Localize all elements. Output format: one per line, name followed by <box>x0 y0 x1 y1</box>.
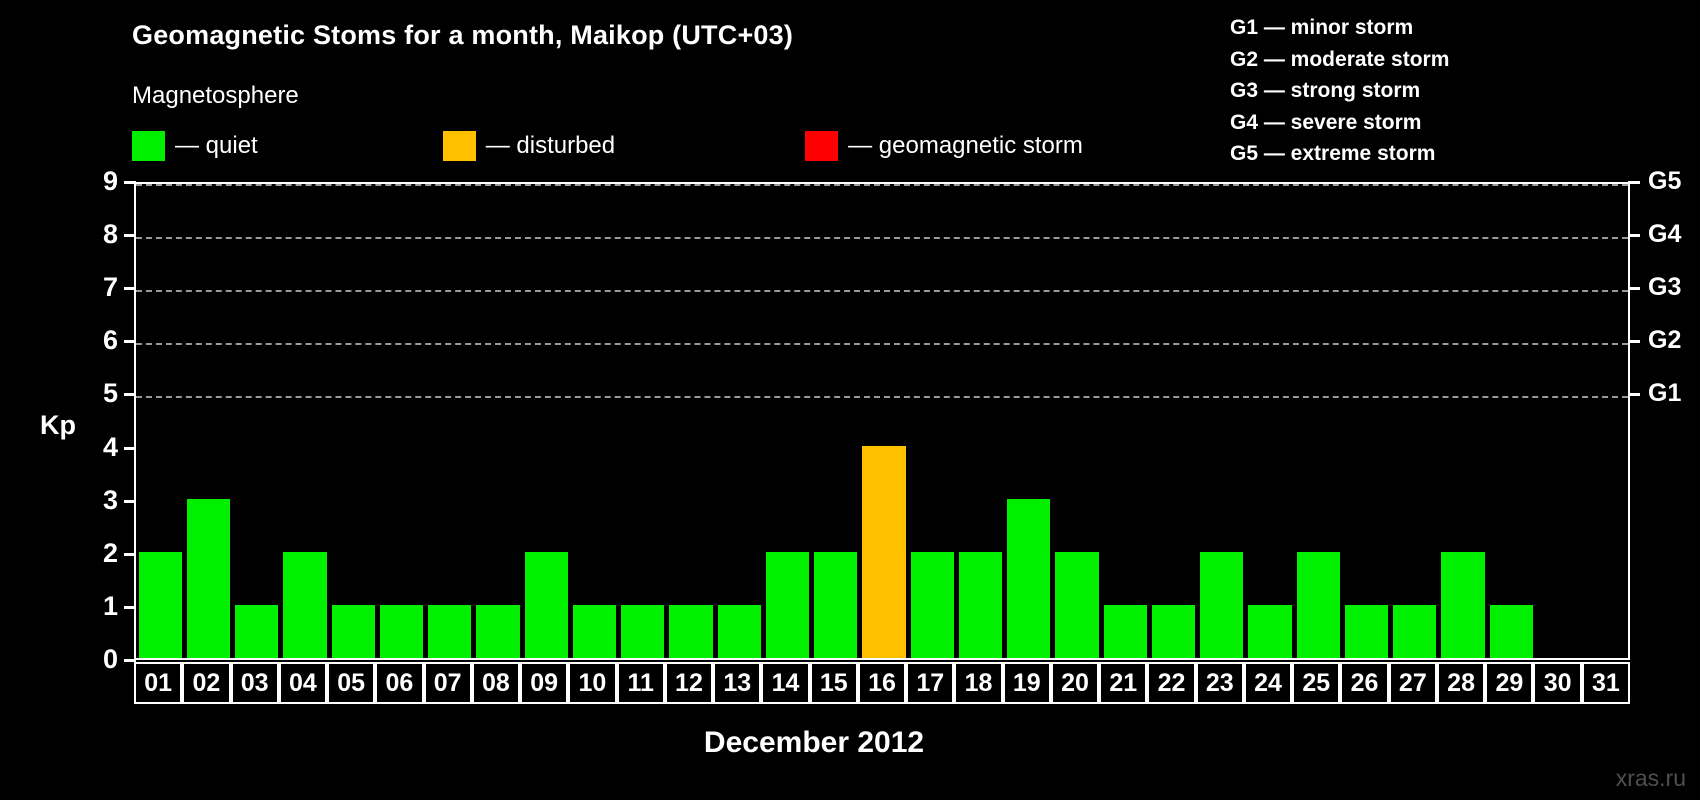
day-label-24[interactable]: 24 <box>1244 662 1292 704</box>
bar-day-18[interactable] <box>959 552 1002 658</box>
g-axis-label-G5: G5 <box>1648 169 1681 194</box>
day-label-10[interactable]: 10 <box>568 662 616 704</box>
gridline-kp-9 <box>136 184 1628 186</box>
g-tick-G5 <box>1628 181 1640 184</box>
g-axis-label-G1: G1 <box>1648 381 1681 406</box>
page-title: Geomagnetic Stoms for a month, Maikop (U… <box>132 20 793 51</box>
day-label-03[interactable]: 03 <box>231 662 279 704</box>
bar-day-03[interactable] <box>235 605 278 658</box>
day-label-31[interactable]: 31 <box>1582 662 1630 704</box>
bar-day-24[interactable] <box>1248 605 1291 658</box>
y-tick-6 <box>124 340 136 343</box>
y-axis-title: Kp <box>40 410 76 441</box>
bar-day-10[interactable] <box>573 605 616 658</box>
bar-day-16[interactable] <box>862 446 905 658</box>
bar-day-26[interactable] <box>1345 605 1388 658</box>
legend-entry-disturbed: — disturbed <box>443 130 615 162</box>
y-axis-label-7: 7 <box>78 274 118 301</box>
day-label-04[interactable]: 04 <box>279 662 327 704</box>
y-tick-9 <box>124 181 136 184</box>
y-axis-label-9: 9 <box>78 168 118 195</box>
bar-day-28[interactable] <box>1441 552 1484 658</box>
y-tick-5 <box>124 393 136 396</box>
day-label-02[interactable]: 02 <box>182 662 230 704</box>
g-legend-row-1: G1 — minor storm <box>1230 12 1449 44</box>
day-label-11[interactable]: 11 <box>617 662 665 704</box>
g-legend-row-4: G4 — severe storm <box>1230 107 1449 139</box>
day-label-29[interactable]: 29 <box>1485 662 1533 704</box>
g-tick-G1 <box>1628 393 1640 396</box>
day-label-07[interactable]: 07 <box>424 662 472 704</box>
bar-day-09[interactable] <box>525 552 568 658</box>
y-tick-2 <box>124 553 136 556</box>
month-label: December 2012 <box>0 726 1700 760</box>
bar-day-27[interactable] <box>1393 605 1436 658</box>
month-label-text: December 2012 <box>704 726 924 759</box>
day-label-12[interactable]: 12 <box>665 662 713 704</box>
bar-day-19[interactable] <box>1007 499 1050 658</box>
bar-day-12[interactable] <box>669 605 712 658</box>
bar-day-04[interactable] <box>283 552 326 658</box>
gridline-kp-6 <box>136 343 1628 345</box>
gridline-kp-7 <box>136 290 1628 292</box>
day-label-30[interactable]: 30 <box>1533 662 1581 704</box>
g-axis-label-G2: G2 <box>1648 328 1681 353</box>
watermark: xras.ru <box>1616 765 1686 792</box>
y-tick-3 <box>124 500 136 503</box>
g-axis-label-G4: G4 <box>1648 222 1681 247</box>
day-label-26[interactable]: 26 <box>1340 662 1388 704</box>
plot-frame <box>134 182 1630 660</box>
bar-day-25[interactable] <box>1297 552 1340 658</box>
bar-day-14[interactable] <box>766 552 809 658</box>
y-axis-label-4: 4 <box>78 434 118 461</box>
g-scale-legend: G1 — minor stormG2 — moderate stormG3 — … <box>1230 12 1449 170</box>
g-legend-row-5: G5 — extreme storm <box>1230 138 1449 170</box>
y-axis-label-3: 3 <box>78 487 118 514</box>
bar-day-05[interactable] <box>332 605 375 658</box>
day-label-17[interactable]: 17 <box>906 662 954 704</box>
y-axis-label-2: 2 <box>78 540 118 567</box>
day-label-27[interactable]: 27 <box>1389 662 1437 704</box>
day-label-25[interactable]: 25 <box>1292 662 1340 704</box>
y-tick-4 <box>124 447 136 450</box>
bar-day-11[interactable] <box>621 605 664 658</box>
y-axis-label-6: 6 <box>78 327 118 354</box>
bar-day-21[interactable] <box>1104 605 1147 658</box>
legend-swatch-geomagnetic-storm <box>805 131 838 161</box>
bar-day-08[interactable] <box>476 605 519 658</box>
day-label-14[interactable]: 14 <box>761 662 809 704</box>
g-tick-G4 <box>1628 234 1640 237</box>
y-tick-7 <box>124 287 136 290</box>
day-label-13[interactable]: 13 <box>713 662 761 704</box>
day-label-19[interactable]: 19 <box>1003 662 1051 704</box>
plot-area <box>136 184 1628 658</box>
day-label-21[interactable]: 21 <box>1099 662 1147 704</box>
day-label-28[interactable]: 28 <box>1437 662 1485 704</box>
day-label-01[interactable]: 01 <box>134 662 182 704</box>
g-axis-label-G3: G3 <box>1648 275 1681 300</box>
bar-day-01[interactable] <box>139 552 182 658</box>
day-label-08[interactable]: 08 <box>472 662 520 704</box>
bar-day-17[interactable] <box>911 552 954 658</box>
day-label-18[interactable]: 18 <box>954 662 1002 704</box>
day-axis: 0102030405060708091011121314151617181920… <box>134 662 1630 704</box>
gridline-kp-5 <box>136 396 1628 398</box>
y-axis-label-0: 0 <box>78 646 118 673</box>
g-tick-G3 <box>1628 287 1640 290</box>
magnetosphere-label: Magnetosphere <box>132 82 299 110</box>
legend-swatch-disturbed <box>443 131 476 161</box>
color-legend: — quiet— disturbed— geomagnetic storm <box>132 130 1083 162</box>
legend-label-disturbed: — disturbed <box>486 132 615 160</box>
y-axis-label-8: 8 <box>78 221 118 248</box>
y-tick-8 <box>124 234 136 237</box>
bar-day-02[interactable] <box>187 499 230 658</box>
day-label-20[interactable]: 20 <box>1051 662 1099 704</box>
y-tick-1 <box>124 606 136 609</box>
y-axis-label-5: 5 <box>78 380 118 407</box>
gridline-kp-8 <box>136 237 1628 239</box>
y-axis-label-1: 1 <box>78 593 118 620</box>
day-label-15[interactable]: 15 <box>810 662 858 704</box>
g-legend-row-2: G2 — moderate storm <box>1230 44 1449 76</box>
bar-day-15[interactable] <box>814 552 857 658</box>
legend-swatch-quiet <box>132 131 165 161</box>
g-tick-G2 <box>1628 340 1640 343</box>
bar-day-29[interactable] <box>1490 605 1533 658</box>
day-label-22[interactable]: 22 <box>1147 662 1195 704</box>
bar-day-20[interactable] <box>1055 552 1098 658</box>
bar-day-23[interactable] <box>1200 552 1243 658</box>
legend-label-geomagnetic-storm: — geomagnetic storm <box>848 132 1083 160</box>
bar-day-07[interactable] <box>428 605 471 658</box>
day-label-09[interactable]: 09 <box>520 662 568 704</box>
legend-entry-geomagnetic-storm: — geomagnetic storm <box>805 130 1083 162</box>
legend-label-quiet: — quiet <box>175 132 258 160</box>
bar-day-13[interactable] <box>718 605 761 658</box>
day-label-23[interactable]: 23 <box>1196 662 1244 704</box>
day-label-05[interactable]: 05 <box>327 662 375 704</box>
bar-day-22[interactable] <box>1152 605 1195 658</box>
bar-day-06[interactable] <box>380 605 423 658</box>
g-legend-row-3: G3 — strong storm <box>1230 75 1449 107</box>
legend-entry-quiet: — quiet <box>132 130 258 162</box>
day-label-06[interactable]: 06 <box>375 662 423 704</box>
day-label-16[interactable]: 16 <box>858 662 906 704</box>
